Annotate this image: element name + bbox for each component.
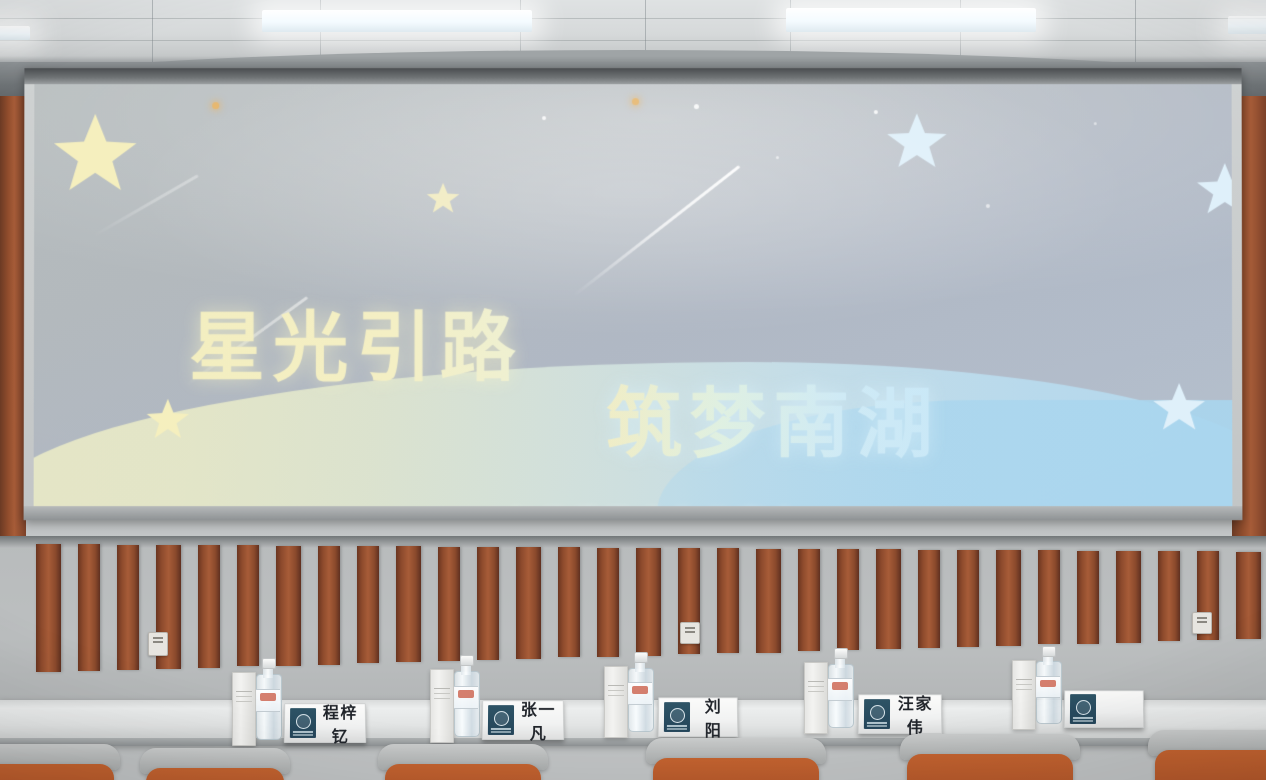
ceiling-light-left: [262, 10, 532, 32]
wood-slat: [396, 546, 421, 662]
chair-3: [378, 744, 548, 780]
wood-slat: [318, 546, 340, 665]
wall-outlet-left[interactable]: [148, 632, 168, 656]
wood-slat: [876, 549, 901, 649]
gift-box: [1012, 660, 1036, 730]
gift-box: [804, 662, 828, 734]
name-card: [1064, 690, 1144, 728]
university-logo-icon: [488, 705, 514, 735]
water-bottle: [454, 655, 478, 737]
chair-back: [385, 764, 541, 780]
slide-title-line-2: 筑梦南湖: [606, 362, 941, 472]
projection-screen: 星光引路 筑梦南湖 2025年优秀毕业生分享会 主办单位：华中师范大学信息管理学…: [34, 84, 1233, 506]
wood-slat: [1158, 551, 1180, 641]
university-logo-icon: [1070, 694, 1096, 724]
wood-slat: [636, 548, 661, 656]
wood-column-left: [0, 96, 26, 566]
chair-back: [1155, 750, 1266, 780]
chair-1: [0, 744, 120, 780]
water-bottle: [256, 658, 280, 740]
slide-text-group: 星光引路 筑梦南湖 2025年优秀毕业生分享会 主办单位：华中师范大学信息管理学…: [34, 84, 1233, 506]
wood-slat: [36, 544, 61, 672]
wall-outlet-right[interactable]: [1192, 612, 1212, 634]
ceiling-light-far-left: [0, 26, 30, 40]
water-bottle: [628, 652, 652, 732]
chair-6: [1148, 730, 1266, 780]
chair-back: [653, 758, 819, 780]
lecture-hall-photo: 星光引路 筑梦南湖 2025年优秀毕业生分享会 主办单位：华中师范大学信息管理学…: [0, 0, 1266, 780]
wood-slat: [477, 547, 499, 660]
wood-slat: [1077, 551, 1099, 644]
name-card: 汪家伟: [858, 694, 942, 734]
chair-4: [646, 738, 826, 780]
wood-slat: [516, 547, 541, 659]
name-card-label: 刘阳: [690, 693, 737, 741]
wood-slat: [996, 550, 1021, 646]
wood-slat: [237, 545, 259, 666]
wood-slat: [1038, 550, 1060, 644]
wood-slat: [438, 547, 460, 661]
chair-5: [900, 734, 1080, 780]
wood-slat: [558, 547, 580, 657]
slide-subtitle: 2025年优秀毕业生分享会: [412, 498, 802, 506]
gift-box: [604, 666, 628, 738]
wall-outlet-mid[interactable]: [680, 622, 700, 644]
wood-slat: [198, 545, 220, 668]
name-card: 刘阳: [658, 697, 738, 737]
slide-title-line-1: 星光引路: [189, 286, 524, 396]
university-logo-icon: [290, 708, 316, 738]
water-bottle: [1036, 646, 1060, 724]
chair-back: [907, 754, 1073, 780]
gift-box: [430, 669, 454, 743]
ceiling-light-right: [786, 8, 1036, 32]
water-bottle: [828, 648, 852, 728]
wood-slat: [1236, 552, 1261, 639]
name-card-label: 程梓钇: [316, 699, 365, 747]
name-card: 程梓钇: [284, 703, 366, 743]
university-logo-icon: [864, 699, 890, 729]
wood-slat: [756, 549, 781, 653]
screen-bottom-bar: [24, 506, 1243, 520]
name-card-label: 汪家伟: [890, 690, 941, 738]
screen-top-bar: [24, 68, 1241, 84]
wood-slat: [117, 545, 139, 670]
wood-slat: [597, 548, 619, 657]
wood-slat: [957, 550, 979, 647]
wood-slat: [357, 546, 379, 663]
university-logo-icon: [664, 702, 690, 732]
wood-slat: [918, 550, 940, 648]
wood-slat: [78, 544, 100, 671]
wood-slat: [276, 546, 301, 666]
wood-slat: [798, 549, 820, 651]
wood-slat: [1116, 551, 1141, 643]
chair-2: [140, 748, 290, 780]
wood-slat: [837, 549, 859, 650]
name-card-label: 张一凡: [514, 696, 563, 744]
projection-screen-frame: 星光引路 筑梦南湖 2025年优秀毕业生分享会 主办单位：华中师范大学信息管理学…: [24, 68, 1243, 520]
chair-back: [146, 768, 284, 780]
ceiling-light-far-right: [1228, 16, 1266, 34]
wood-slat: [717, 548, 739, 653]
name-card: 张一凡: [482, 700, 564, 740]
gift-box: [232, 672, 256, 746]
chair-back: [0, 764, 114, 780]
